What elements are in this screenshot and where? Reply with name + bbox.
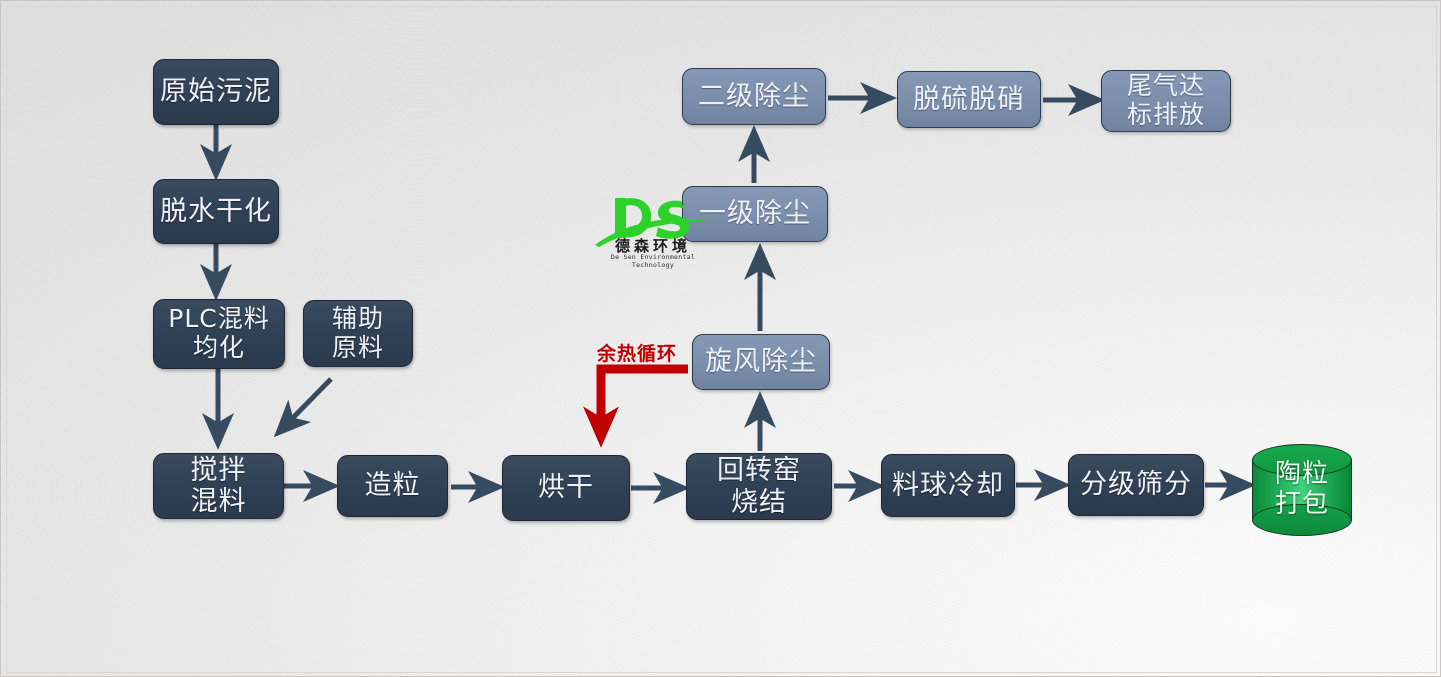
node-plc-mix[interactable]: PLC混料 均化	[153, 299, 285, 369]
logo-name-en: De Sen Environmental Technology	[593, 253, 713, 269]
logo-letter-d-stem	[615, 198, 626, 238]
node-aux-material[interactable]: 辅助 原料	[303, 300, 413, 367]
node-plc-mix-label: PLC混料 均化	[168, 305, 269, 363]
node-desulf-denitr-label: 脱硫脱硝	[913, 84, 1025, 115]
logo-letter-s	[656, 201, 689, 239]
node-secondary-dust[interactable]: 二级除尘	[682, 68, 826, 125]
node-granulate-label: 造粒	[365, 470, 421, 501]
node-drying-label: 烘干	[538, 472, 594, 503]
node-raw-sludge[interactable]: 原始污泥	[153, 59, 279, 125]
node-cyclone-dust[interactable]: 旋风除尘	[692, 334, 830, 390]
node-secondary-dust-label: 二级除尘	[698, 81, 810, 112]
node-drying[interactable]: 烘干	[502, 455, 630, 521]
node-raw-sludge-label: 原始污泥	[160, 76, 272, 107]
node-grading-screen-label: 分级筛分	[1080, 469, 1192, 500]
node-dewater-dry-label: 脱水干化	[160, 196, 272, 227]
node-ball-cooling-label: 料球冷却	[892, 470, 1004, 501]
label-waste-heat-cycle: 余热循环	[597, 339, 677, 366]
node-exhaust-emission-label: 尾气达 标排放	[1127, 72, 1205, 130]
node-rotary-kiln[interactable]: 回转窑 烧结	[686, 453, 832, 520]
node-stir-mix[interactable]: 搅拌 混料	[153, 453, 284, 519]
logo-letter-d	[623, 198, 651, 237]
node-ball-cooling[interactable]: 料球冷却	[881, 454, 1015, 517]
node-grading-screen[interactable]: 分级筛分	[1068, 454, 1204, 516]
node-primary-dust-label: 一级除尘	[699, 198, 811, 229]
node-stir-mix-label: 搅拌 混料	[191, 455, 247, 517]
node-rotary-kiln-label: 回转窑 烧结	[717, 455, 801, 517]
node-exhaust-emission[interactable]: 尾气达 标排放	[1101, 70, 1231, 132]
node-ceramsite-packing-label: 陶粒 打包	[1252, 444, 1352, 536]
arrow-aux-to-stir	[278, 379, 331, 433]
node-aux-material-label: 辅助 原料	[332, 305, 384, 363]
node-cyclone-dust-label: 旋风除尘	[705, 346, 817, 377]
flowchart-canvas: 原始污泥 脱水干化 PLC混料 均化 辅助 原料 搅拌 混料 造粒 烘干 回转窑…	[0, 0, 1441, 677]
arrow-waste-heat-recycle	[601, 369, 688, 437]
company-logo: 德森环境 De Sen Environmental Technology	[593, 191, 713, 273]
node-desulf-denitr[interactable]: 脱硫脱硝	[897, 71, 1041, 128]
node-granulate[interactable]: 造粒	[337, 455, 448, 517]
node-dewater-dry[interactable]: 脱水干化	[153, 179, 279, 244]
node-ceramsite-packing[interactable]: 陶粒 打包	[1252, 444, 1352, 536]
